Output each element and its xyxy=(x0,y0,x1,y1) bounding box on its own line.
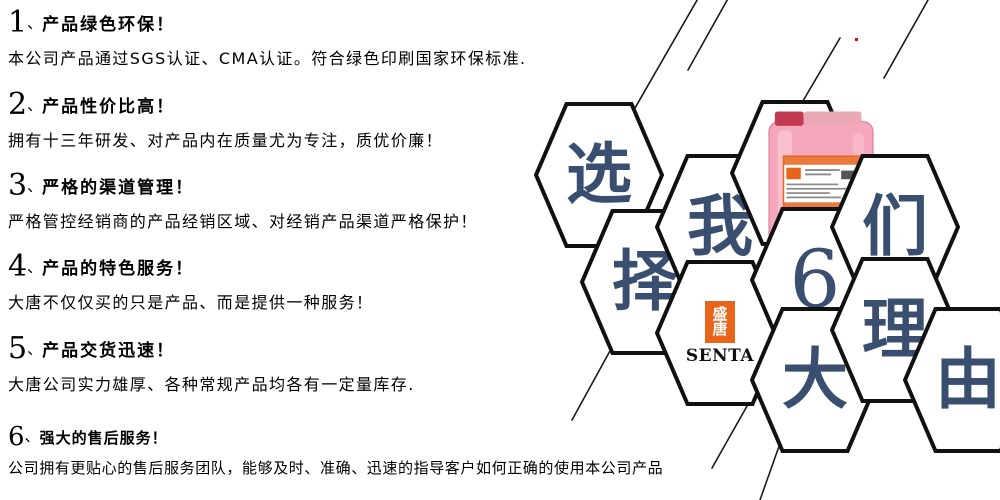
logo-char-2: 唐 xyxy=(712,322,727,337)
poster-root: 1、产品绿色环保！ 本公司产品通过SGS认证、CMA认证。符合绿色印刷国家环保标… xyxy=(0,0,1000,500)
hex-label-you: 由 xyxy=(903,305,1000,455)
honeycomb-graphic: 选 择 我 盛 唐 SENTA xyxy=(0,0,1000,500)
hex-cell-you: 由 xyxy=(903,305,1000,455)
logo-seal-icon: 盛 唐 xyxy=(705,301,735,343)
logo-wordmark: SENTA xyxy=(686,346,754,366)
